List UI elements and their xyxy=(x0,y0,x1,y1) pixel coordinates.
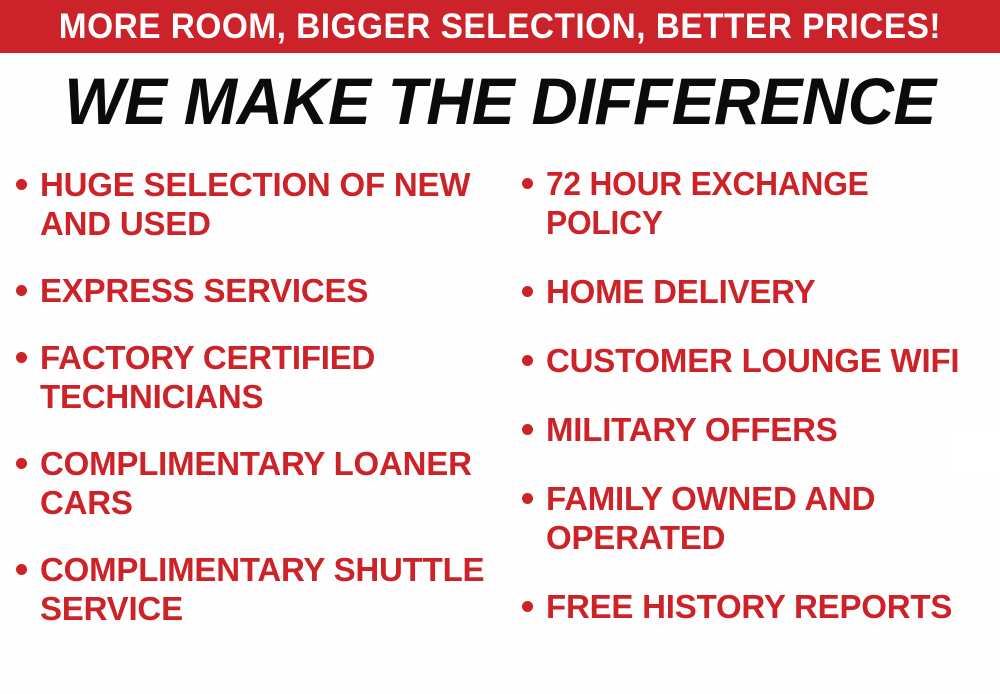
list-item-label: EXPRESS SERVICES xyxy=(40,271,494,310)
list-item: FREE HISTORY REPORTS xyxy=(522,587,996,626)
list-item-label: FAMILY OWNED AND OPERATED xyxy=(546,479,996,557)
list-item-label: FACTORY CERTIFIED TECHNICIANS xyxy=(40,338,494,416)
list-item: 72 HOUR EXCHANGE POLICY xyxy=(522,164,996,242)
bullet-dot-icon xyxy=(16,179,27,190)
list-item: CUSTOMER LOUNGE WIFI xyxy=(522,341,996,380)
list-item: FACTORY CERTIFIED TECHNICIANS xyxy=(16,338,494,416)
list-item: EXPRESS SERVICES xyxy=(16,271,494,310)
bullet-dot-icon xyxy=(16,285,27,296)
list-item-label: MILITARY OFFERS xyxy=(546,410,996,449)
list-item-label: CUSTOMER LOUNGE WIFI xyxy=(546,341,996,380)
list-item: HUGE SELECTION OF NEW AND USED xyxy=(16,165,494,243)
bullet-dot-icon xyxy=(16,564,27,575)
bullet-dot-icon xyxy=(16,458,27,469)
list-item: FAMILY OWNED AND OPERATED xyxy=(522,479,996,557)
bullet-dot-icon xyxy=(522,493,533,504)
bullet-dot-icon xyxy=(16,352,27,363)
banner-headline: MORE ROOM, BIGGER SELECTION, BETTER PRIC… xyxy=(59,9,941,45)
list-item: HOME DELIVERY xyxy=(522,272,996,311)
top-banner: MORE ROOM, BIGGER SELECTION, BETTER PRIC… xyxy=(0,0,1000,53)
bullet-dot-icon xyxy=(522,601,533,612)
list-item: COMPLIMENTARY LOANER CARS xyxy=(16,444,494,522)
benefits-column-left: HUGE SELECTION OF NEW AND USED EXPRESS S… xyxy=(0,155,500,656)
list-item: COMPLIMENTARY SHUTTLE SERVICE xyxy=(16,550,494,628)
bullet-dot-icon xyxy=(522,424,533,435)
list-item-label: HUGE SELECTION OF NEW AND USED xyxy=(40,165,494,243)
list-item-label: COMPLIMENTARY LOANER CARS xyxy=(40,444,494,522)
list-item-label: COMPLIMENTARY SHUTTLE SERVICE xyxy=(40,550,494,628)
list-item-label: HOME DELIVERY xyxy=(546,272,996,311)
bullet-dot-icon xyxy=(522,178,533,189)
dealership-benefits-poster: MORE ROOM, BIGGER SELECTION, BETTER PRIC… xyxy=(0,0,1000,694)
page-title: WE MAKE THE DIFFERENCE xyxy=(15,64,985,138)
benefits-column-right: 72 HOUR EXCHANGE POLICY HOME DELIVERY CU… xyxy=(500,155,1000,656)
list-item-label: 72 HOUR EXCHANGE POLICY xyxy=(546,164,978,242)
benefits-columns: HUGE SELECTION OF NEW AND USED EXPRESS S… xyxy=(0,155,1000,694)
list-item-label: FREE HISTORY REPORTS xyxy=(546,587,996,626)
list-item: MILITARY OFFERS xyxy=(522,410,996,449)
bullet-dot-icon xyxy=(522,286,533,297)
bullet-dot-icon xyxy=(522,355,533,366)
